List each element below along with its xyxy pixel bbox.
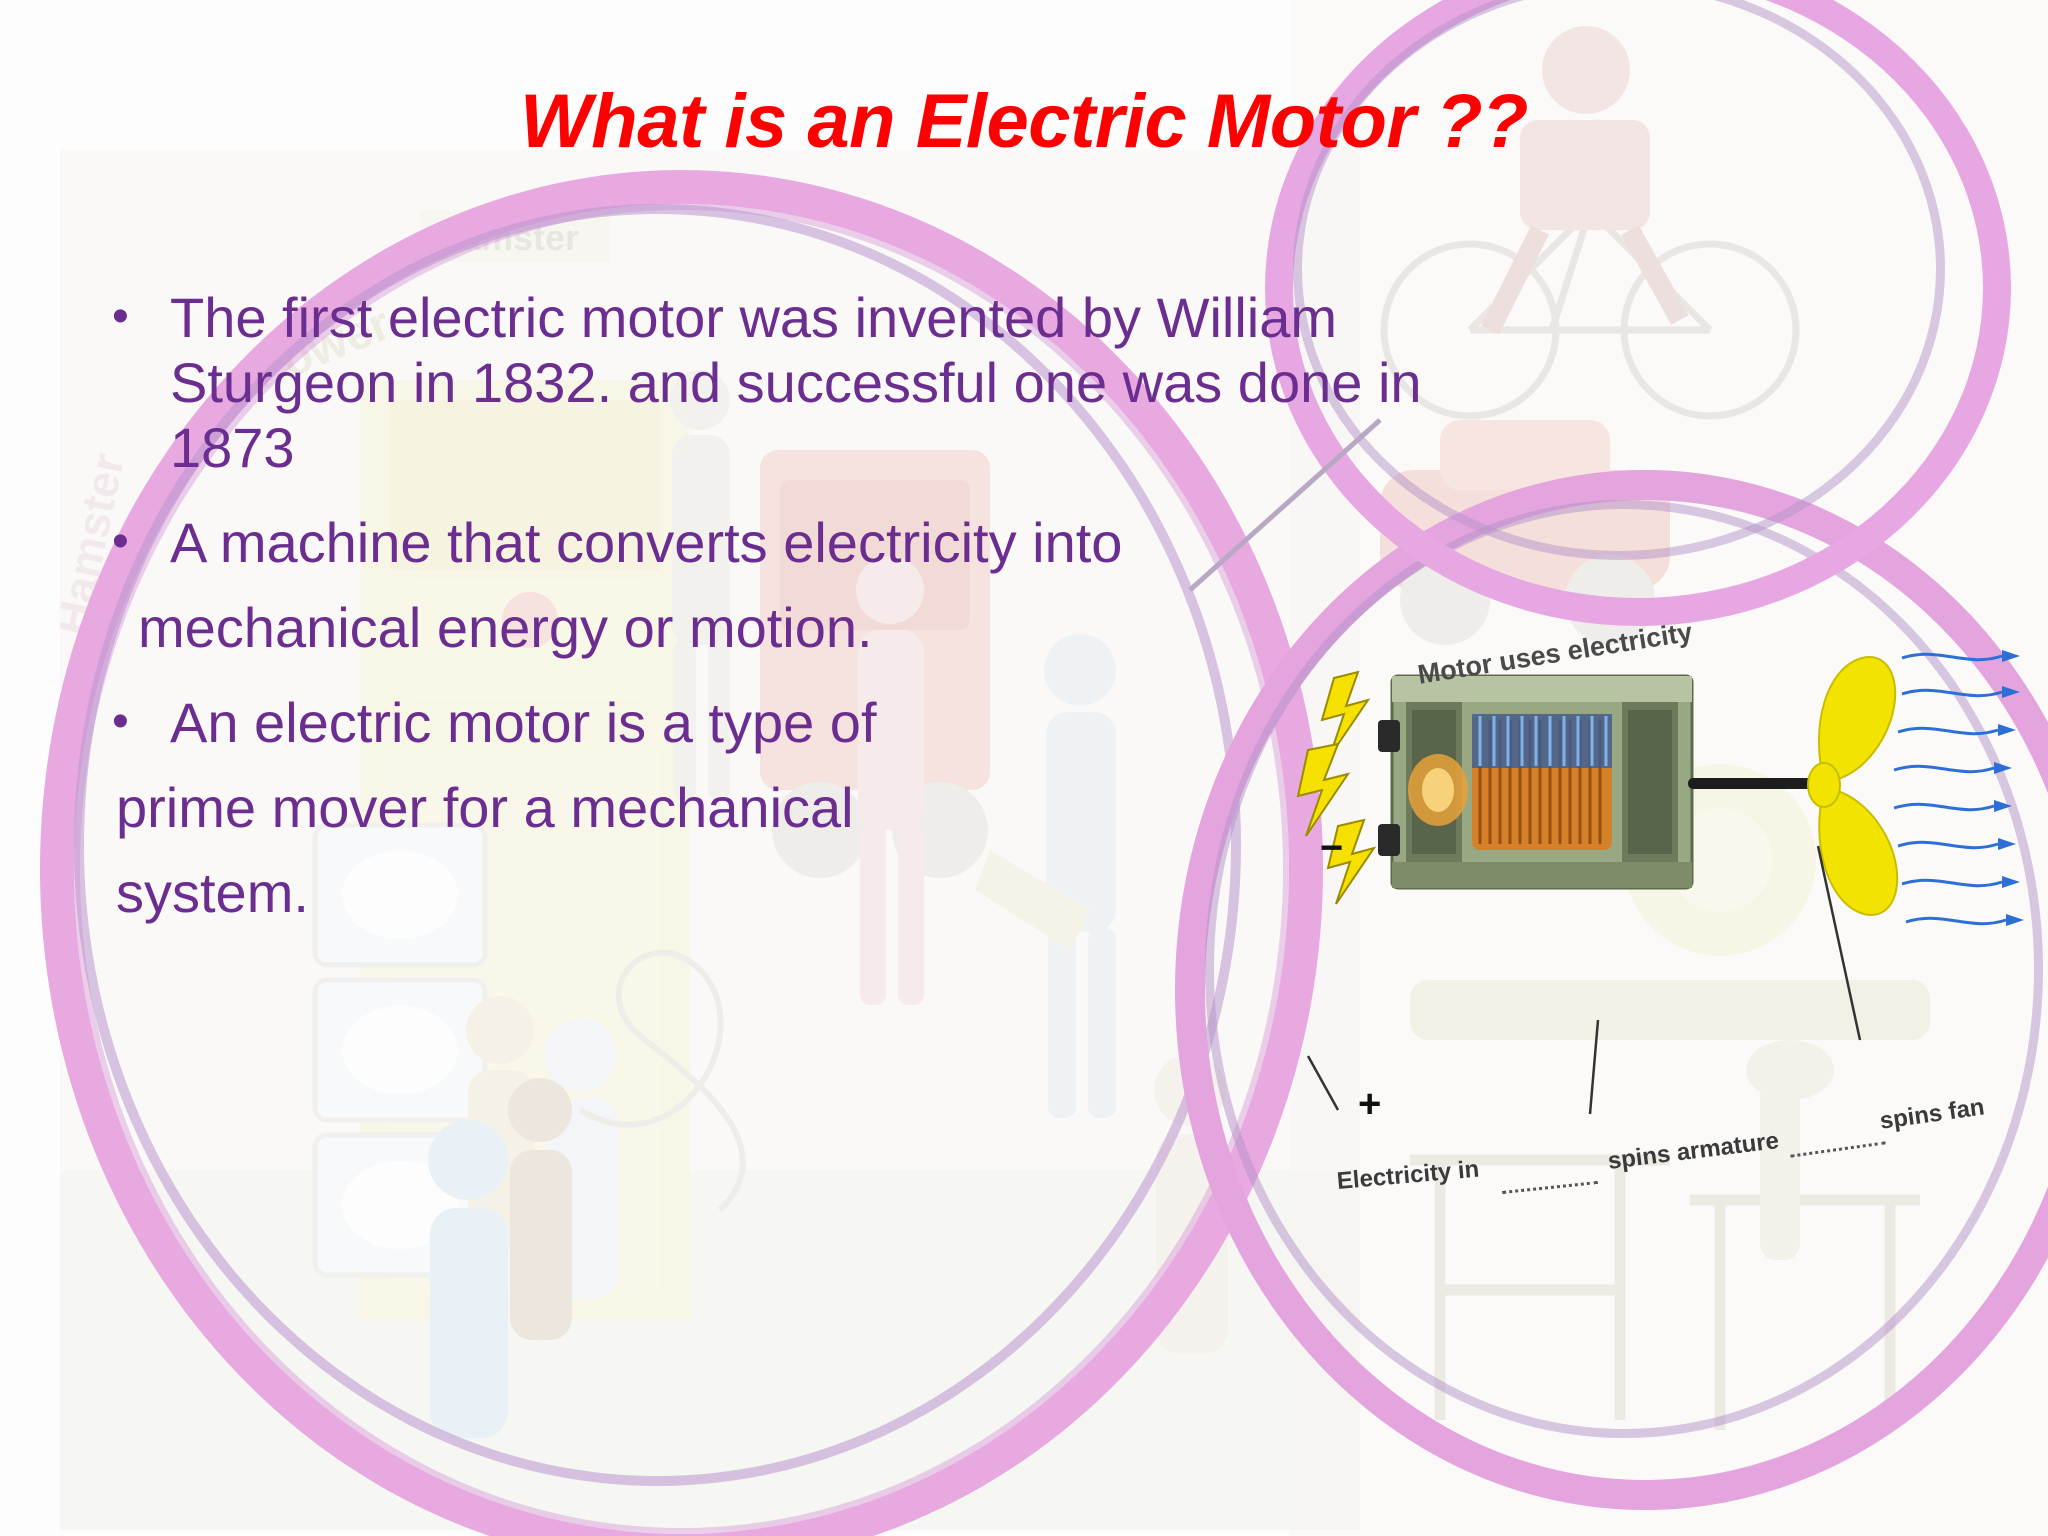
bullet-3-line-1: An electric motor is a type of (170, 691, 1220, 756)
airflow-arrows (1894, 654, 2006, 923)
positive-terminal-label: + (1358, 1082, 1381, 1127)
bullet-marker: • (112, 286, 170, 348)
fan-blades (1808, 657, 1897, 915)
negative-terminal-label: − (1320, 826, 1343, 871)
bullet-1-line-1: The first electric motor was invented by… (170, 286, 1790, 351)
bullet-2-line-1: A machine that converts electricity into (170, 511, 1330, 576)
bullet-1-line-3: 1873 (170, 416, 1872, 481)
bullet-marker: • (112, 511, 170, 573)
bullet-marker: • (112, 691, 170, 753)
slide-canvas: Hamster Power Hamster (0, 0, 2048, 1536)
list-item: • A machine that converts electricity in… (112, 511, 1872, 576)
svg-text:Hamster: Hamster (435, 217, 579, 258)
page-title: What is an Electric Motor ?? (0, 82, 2048, 162)
bullet-1-line-2: Sturgeon in 1832. and successful one was… (170, 351, 1872, 416)
list-item: • The first electric motor was invented … (112, 286, 1872, 351)
motor-housing (1378, 676, 1692, 888)
motor-shaft (1688, 778, 1818, 789)
